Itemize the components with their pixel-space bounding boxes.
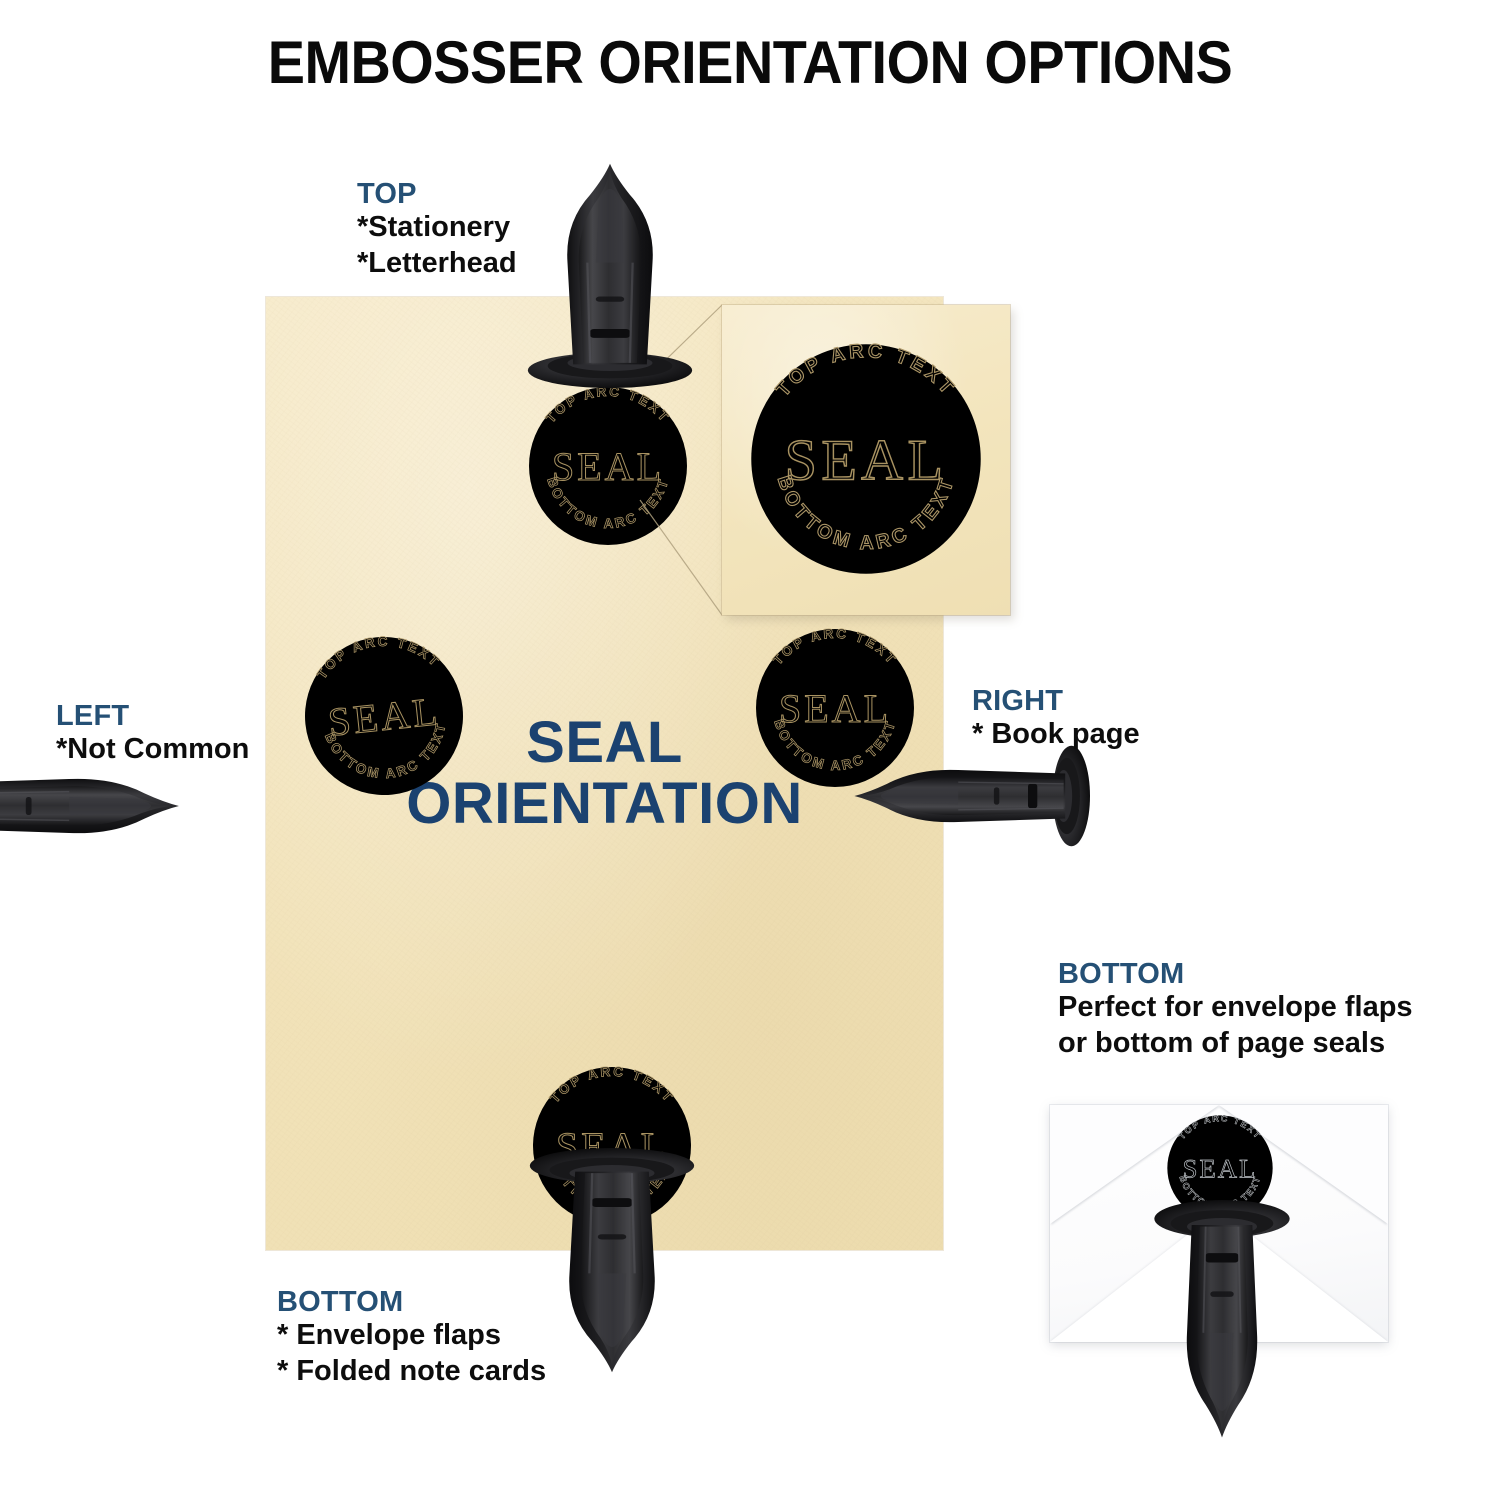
svg-text:SEAL: SEAL	[785, 427, 948, 492]
label-bottom-right-line-0: Perfect for envelope flaps	[1058, 990, 1413, 1025]
label-right-line-0: * Book page	[972, 717, 1140, 752]
page-title: EMBOSSER ORIENTATION OPTIONS	[53, 28, 1448, 97]
label-bottom-right-line-1: or bottom of page seals	[1058, 1026, 1413, 1061]
label-left: LEFT *Not Common	[56, 700, 249, 768]
label-right: RIGHT * Book page	[972, 685, 1140, 753]
center-caption-line2: ORIENTATION	[266, 773, 943, 834]
label-bottom-right-head: BOTTOM	[1058, 958, 1413, 990]
envelope-left-flap	[1050, 1105, 1219, 1224]
center-caption-line1: SEAL	[266, 712, 943, 773]
label-bottom-right: BOTTOM Perfect for envelope flaps or bot…	[1058, 958, 1413, 1061]
label-bottom-left-line-0: * Envelope flaps	[277, 1318, 546, 1353]
label-bottom-left: BOTTOM * Envelope flaps * Folded note ca…	[277, 1286, 546, 1389]
label-left-line-0: *Not Common	[56, 732, 249, 767]
envelope-bottom-flap	[1050, 1210, 1388, 1342]
label-top-line-1: *Letterhead	[357, 246, 517, 281]
svg-text:TOP ARC TEXT: TOP ARC TEXT	[772, 340, 960, 401]
magnifier-detail-panel: TOP ARC TEXT SEAL BOTTOM ARC TEXT	[722, 305, 1010, 615]
label-bottom-left-line-1: * Folded note cards	[277, 1354, 546, 1389]
label-right-head: RIGHT	[972, 685, 1140, 717]
seal-impression-magnified: TOP ARC TEXT SEAL BOTTOM ARC TEXT	[744, 337, 988, 581]
svg-text:BOTTOM ARC TEXT: BOTTOM ARC TEXT	[773, 473, 959, 554]
envelope-right-flap	[1219, 1105, 1388, 1224]
label-left-head: LEFT	[56, 700, 249, 732]
label-top: TOP *Stationery *Letterhead	[357, 178, 517, 281]
label-top-line-0: *Stationery	[357, 210, 517, 245]
envelope	[1050, 1105, 1388, 1342]
poster-canvas: EMBOSSER ORIENTATION OPTIONS SEAL ORIENT…	[0, 0, 1500, 1500]
label-bottom-left-head: BOTTOM	[277, 1286, 546, 1318]
label-top-head: TOP	[357, 178, 517, 210]
center-caption: SEAL ORIENTATION	[266, 712, 943, 835]
